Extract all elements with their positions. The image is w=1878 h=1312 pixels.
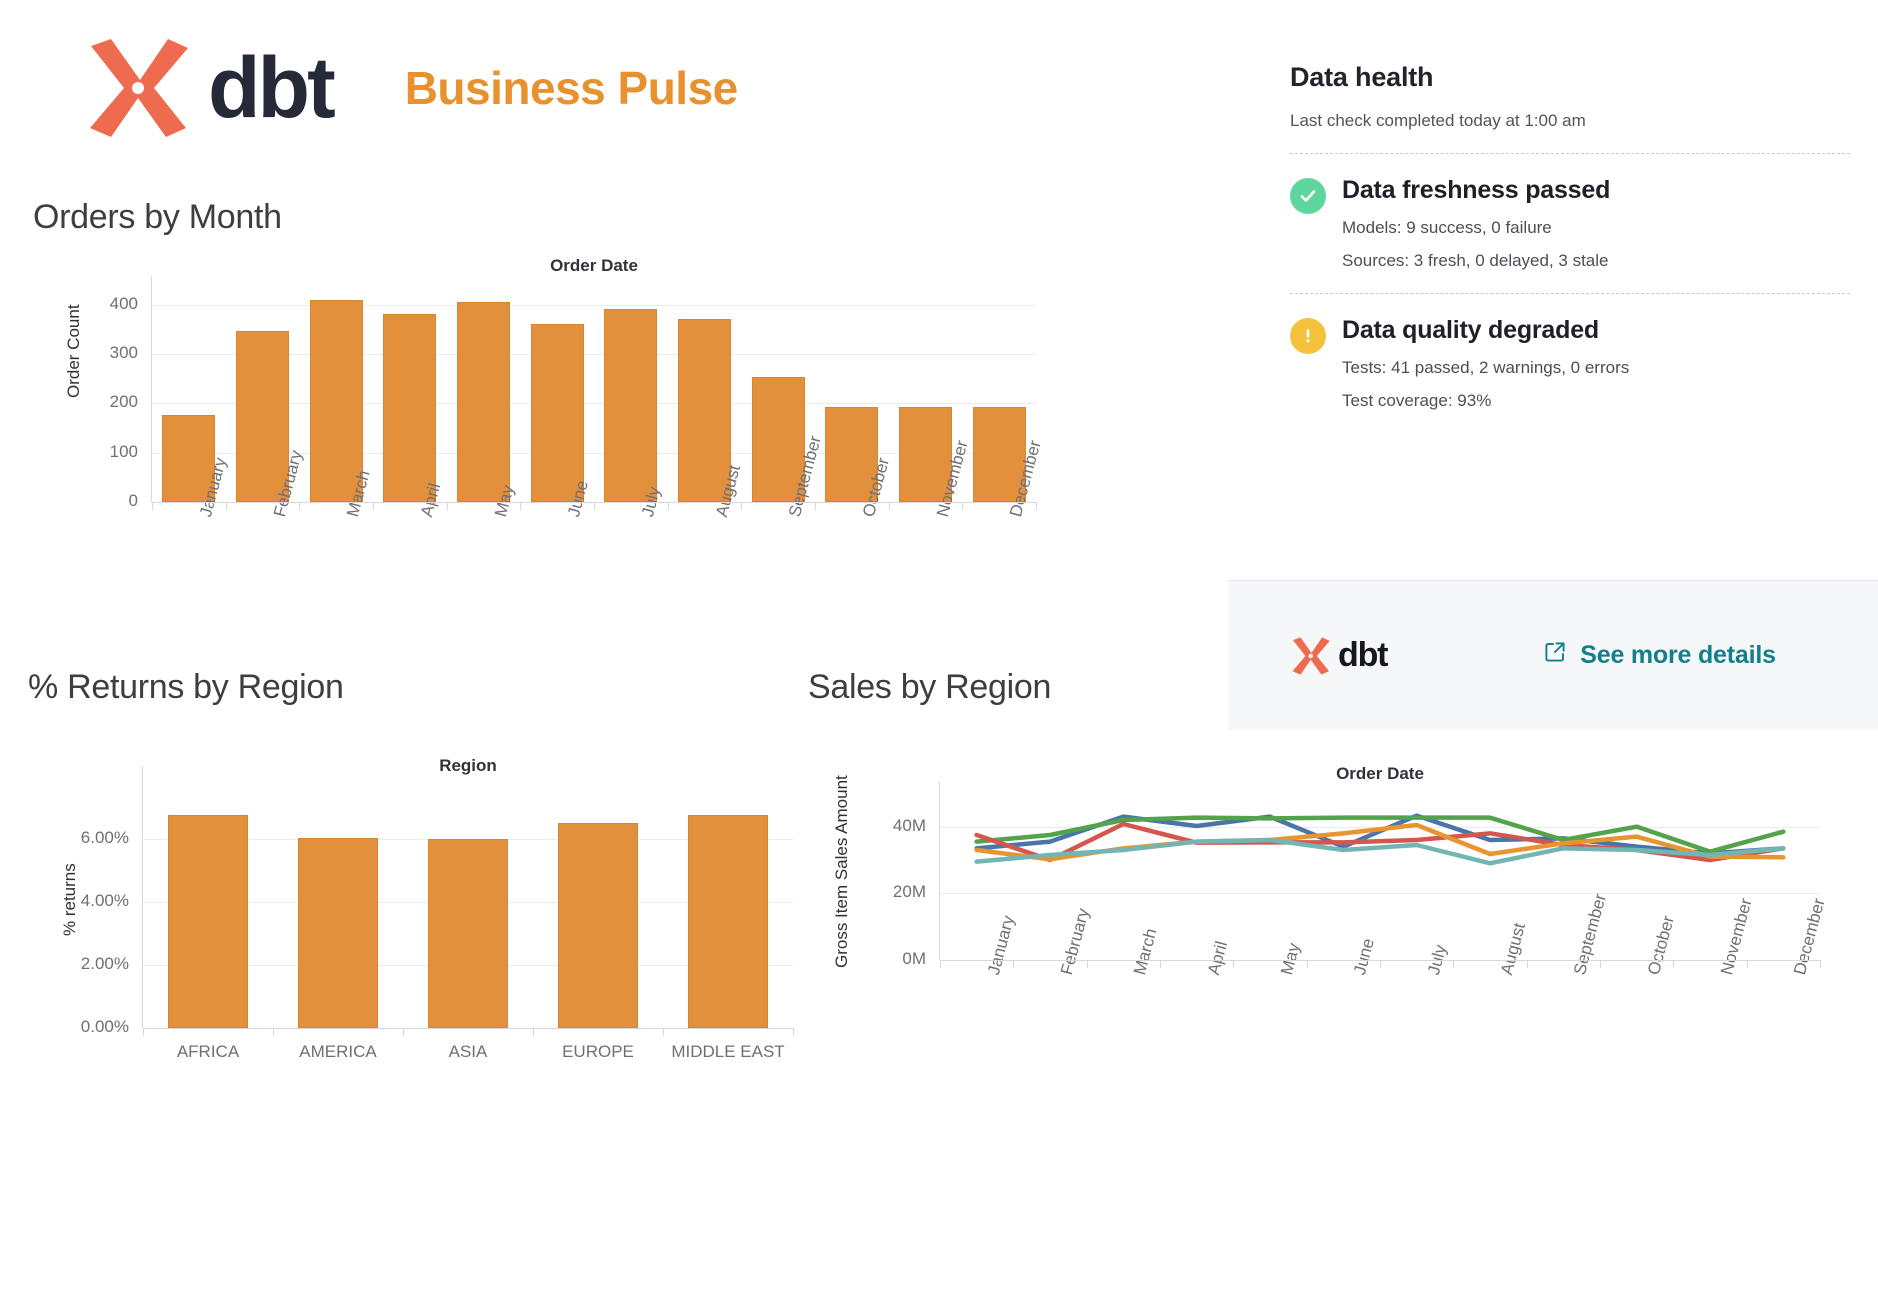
sales-by-region-chart: Sales by Region Order Date Gross Item Sa… (802, 668, 1878, 1308)
x-axis-tick (1820, 960, 1821, 968)
x-axis-tick (889, 502, 890, 510)
health-item-title: Data quality degraded (1342, 316, 1629, 345)
see-more-details-label: See more details (1580, 641, 1776, 670)
x-axis-tick-label: MIDDLE EAST (663, 1042, 793, 1062)
see-more-details-card: dbt See more details (1228, 580, 1878, 730)
check-circle-icon (1290, 178, 1326, 214)
bar[interactable] (531, 324, 584, 502)
x-axis-tick (940, 960, 941, 968)
returns-plot-area: 0.00%2.00%4.00%6.00%AFRICAAMERICAASIAEUR… (143, 788, 793, 1028)
dbt-wordmark: dbt (1338, 636, 1387, 675)
page-title: Business Pulse (405, 61, 738, 115)
dbt-logo-icon (78, 36, 194, 140)
bar[interactable] (298, 838, 379, 1028)
bar[interactable] (428, 839, 509, 1028)
see-more-details-link[interactable]: See more details (1543, 640, 1776, 671)
y-axis-tick-label: 4.00% (81, 891, 129, 911)
health-item-freshness: Data freshness passed Models: 9 success,… (1290, 176, 1850, 271)
x-axis-tick (226, 502, 227, 510)
external-link-icon (1543, 640, 1567, 671)
dashboard-page: dbt Business Pulse Orders by Month Order… (0, 0, 1878, 1312)
x-axis-tick (793, 1028, 794, 1036)
warning-circle-icon (1290, 318, 1326, 354)
y-axis-tick-label: 40M (893, 816, 926, 836)
x-axis-tick (273, 1028, 274, 1036)
app-header: dbt Business Pulse (78, 36, 738, 140)
x-axis-line (152, 502, 1036, 503)
bar[interactable] (558, 823, 639, 1028)
x-axis-tick (143, 1028, 144, 1036)
y-axis-line (151, 276, 152, 502)
y-axis-tick-label: 300 (110, 343, 138, 363)
y-axis-tick-label: 20M (893, 882, 926, 902)
sales-top-label: Order Date (940, 764, 1820, 784)
x-axis-tick (741, 502, 742, 510)
last-check-text: Last check completed today at 1:00 am (1290, 111, 1850, 131)
x-axis-tick (668, 502, 669, 510)
x-axis-tick (1013, 960, 1014, 968)
y-axis-tick-label: 400 (110, 294, 138, 314)
divider (1290, 293, 1850, 294)
y-axis-tick-label: 0 (129, 491, 138, 511)
sales-y-axis-title: Gross Item Sales Amount (832, 775, 852, 968)
x-axis-tick-label: AFRICA (143, 1042, 273, 1062)
x-axis-tick (299, 502, 300, 510)
sales-plot-area: 0M20M40MJanuaryFebruaryMarchAprilMayJune… (940, 800, 1820, 960)
orders-plot-area: 0100200300400JanuaryFebruaryMarchAprilMa… (152, 290, 1036, 502)
returns-section-title: % Returns by Region (28, 668, 344, 707)
y-axis-line (142, 766, 143, 1028)
y-axis-tick-label: 200 (110, 392, 138, 412)
x-axis-tick (152, 502, 153, 510)
dbt-logo-icon (1288, 636, 1332, 676)
health-item-line: Models: 9 success, 0 failure (1342, 218, 1610, 238)
x-axis-tick (1673, 960, 1674, 968)
x-axis-tick (447, 502, 448, 510)
health-item-line: Sources: 3 fresh, 0 delayed, 3 stale (1342, 251, 1610, 271)
x-axis-tick (373, 502, 374, 510)
x-axis-tick (1527, 960, 1528, 968)
orders-top-label: Order Date (152, 256, 1036, 276)
y-axis-tick-label: 6.00% (81, 828, 129, 848)
dbt-wordmark: dbt (208, 45, 333, 131)
x-axis-tick-label: ASIA (403, 1042, 533, 1062)
orders-section-title: Orders by Month (33, 198, 282, 237)
returns-top-label: Region (143, 756, 793, 776)
x-axis-tick (1453, 960, 1454, 968)
health-item-line: Tests: 41 passed, 2 warnings, 0 errors (1342, 358, 1629, 378)
x-axis-tick (533, 1028, 534, 1036)
x-axis-tick (962, 502, 963, 510)
gridline (152, 305, 1036, 306)
divider (1290, 153, 1850, 154)
x-axis-tick (815, 502, 816, 510)
x-axis-tick (1036, 502, 1037, 510)
x-axis-tick (403, 1028, 404, 1036)
dbt-logo-small: dbt (1288, 636, 1387, 676)
bar[interactable] (688, 815, 769, 1028)
x-axis-tick (663, 1028, 664, 1036)
bar[interactable] (604, 309, 657, 502)
x-axis-tick (1747, 960, 1748, 968)
y-axis-tick-label: 0.00% (81, 1017, 129, 1037)
x-axis-tick (1380, 960, 1381, 968)
data-health-panel: Data health Last check completed today a… (1290, 62, 1850, 411)
bar[interactable] (383, 314, 436, 502)
x-axis-tick (1233, 960, 1234, 968)
data-health-heading: Data health (1290, 62, 1850, 93)
x-axis-line (940, 960, 1820, 961)
y-axis-tick-label: 2.00% (81, 954, 129, 974)
x-axis-tick (1307, 960, 1308, 968)
bar[interactable] (168, 815, 249, 1028)
health-item-quality: Data quality degraded Tests: 41 passed, … (1290, 316, 1850, 411)
health-item-title: Data freshness passed (1342, 176, 1610, 205)
y-axis-tick-label: 100 (110, 442, 138, 462)
x-axis-tick (1087, 960, 1088, 968)
sales-section-title: Sales by Region (808, 668, 1051, 707)
x-axis-tick-label: EUROPE (533, 1042, 663, 1062)
bar[interactable] (457, 302, 510, 502)
orders-by-month-chart: Orders by Month Order Date Order Count 0… (30, 198, 1040, 638)
returns-y-axis-title: % returns (60, 863, 80, 936)
x-axis-tick (1600, 960, 1601, 968)
returns-by-region-chart: % Returns by Region Region % returns 0.0… (18, 668, 808, 1298)
orders-y-axis-title: Order Count (64, 304, 84, 398)
health-item-line: Test coverage: 93% (1342, 391, 1629, 411)
x-axis-tick (520, 502, 521, 510)
x-axis-tick (594, 502, 595, 510)
y-axis-tick-label: 0M (902, 949, 926, 969)
x-axis-line (143, 1028, 793, 1029)
x-axis-tick (1160, 960, 1161, 968)
x-axis-tick-label: AMERICA (273, 1042, 403, 1062)
